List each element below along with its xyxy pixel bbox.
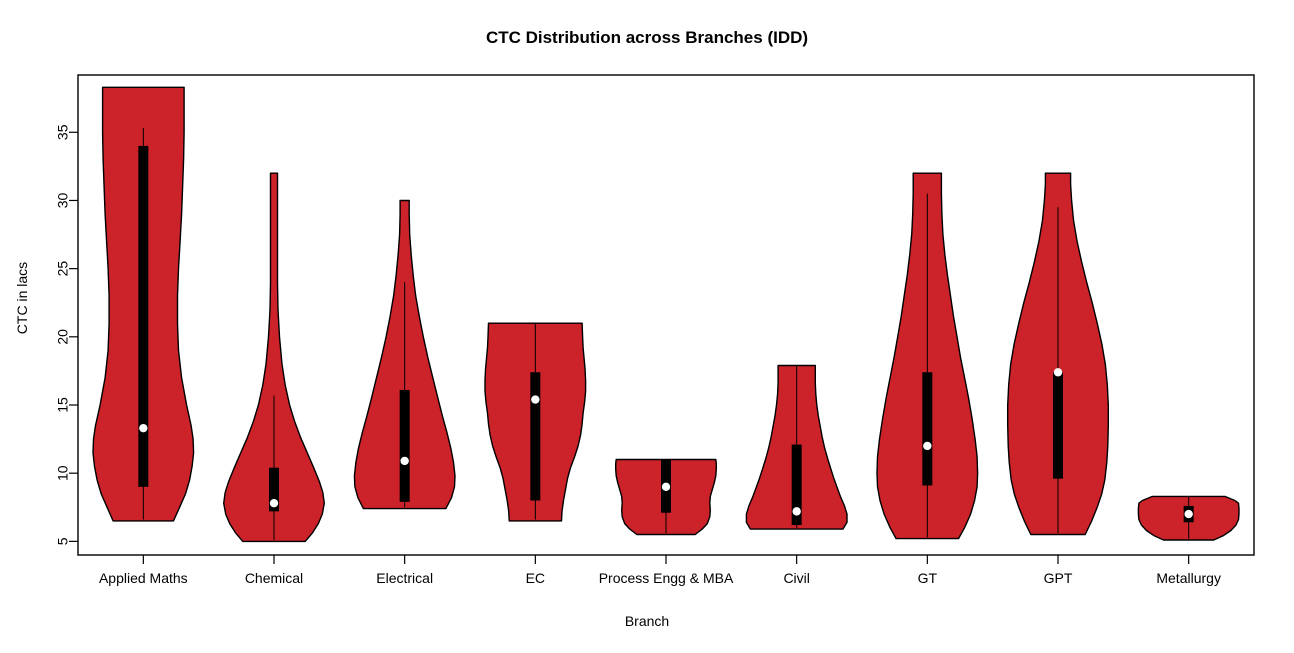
y-tick-label: 20: [55, 329, 71, 345]
y-tick-label: 35: [55, 124, 71, 140]
y-tick-label: 25: [55, 261, 71, 277]
iqr-box: [530, 372, 540, 500]
violin-plot-figure: CTC Distribution across Branches (IDD) C…: [0, 0, 1294, 653]
median-marker: [1054, 368, 1062, 376]
median-marker: [400, 457, 408, 465]
x-tick-label: Chemical: [245, 570, 303, 586]
median-marker: [270, 499, 278, 507]
iqr-box: [922, 372, 932, 485]
median-marker: [531, 395, 539, 403]
violin-chemical[interactable]: [224, 173, 325, 541]
iqr-box: [138, 146, 148, 487]
violin-ec[interactable]: [485, 323, 586, 521]
x-tick-label: Civil: [783, 570, 809, 586]
plot-canvas: 5101520253035Applied MathsChemicalElectr…: [0, 0, 1294, 653]
x-tick-label: Applied Maths: [99, 570, 188, 586]
x-tick-label: GPT: [1044, 570, 1073, 586]
violin-applied-maths[interactable]: [93, 87, 194, 521]
x-tick-label: Process Engg & MBA: [599, 570, 734, 586]
violin-metallurgy[interactable]: [1138, 496, 1239, 540]
x-tick-label: EC: [526, 570, 545, 586]
y-tick-label: 30: [55, 192, 71, 208]
x-tick-label: GT: [918, 570, 938, 586]
median-marker: [662, 483, 670, 491]
median-marker: [923, 442, 931, 450]
violin-gpt[interactable]: [1008, 173, 1109, 534]
y-tick-label: 5: [55, 537, 71, 545]
iqr-box: [400, 390, 410, 502]
median-marker: [792, 507, 800, 515]
median-marker: [139, 424, 147, 432]
median-marker: [1184, 510, 1192, 518]
violin-civil[interactable]: [746, 365, 847, 529]
violin-electrical[interactable]: [354, 201, 455, 509]
violins-layer: [93, 87, 1239, 541]
x-tick-label: Metallurgy: [1156, 570, 1221, 586]
x-tick-label: Electrical: [376, 570, 433, 586]
y-tick-label: 15: [55, 397, 71, 413]
y-tick-label: 10: [55, 465, 71, 481]
violin-gt[interactable]: [877, 173, 978, 538]
violin-process-engg-mba[interactable]: [616, 460, 717, 535]
iqr-box: [1053, 372, 1063, 478]
